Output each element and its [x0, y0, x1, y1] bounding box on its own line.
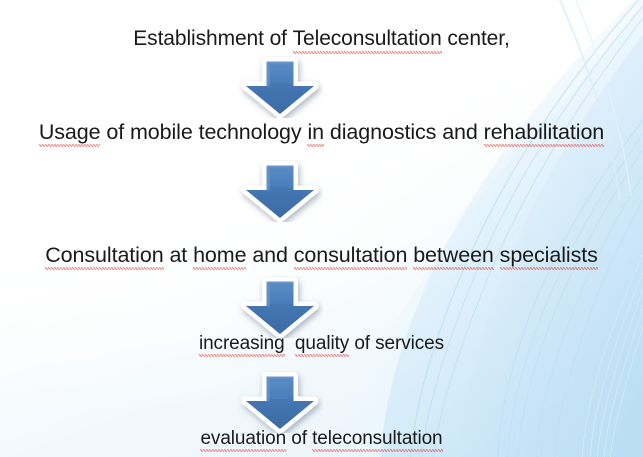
misspelled-word: Usage	[39, 120, 101, 145]
misspelled-word: teleconsultation	[312, 428, 442, 450]
misspelled-word: increasing	[199, 333, 285, 355]
process-flow-diagram: Establishment of Teleconsultation center…	[0, 0, 643, 457]
misspelled-word: between	[413, 243, 494, 268]
flow-step-text-5: evaluation of teleconsultation	[0, 428, 643, 450]
misspelled-word: Teleconsultation	[293, 27, 442, 52]
misspelled-word: consultation	[294, 243, 408, 268]
misspelled-word: home	[193, 243, 246, 268]
misspelled-word: rehabilitation	[484, 120, 605, 145]
misspelled-word: specialists	[500, 243, 598, 268]
down-arrow-icon	[237, 56, 323, 118]
misspelled-word: Consultation	[45, 243, 163, 268]
misspelled-word: evaluation	[200, 428, 286, 450]
flow-step-text-4: increasing quality of services	[0, 333, 643, 355]
flow-step-text-2: Usage of mobile technology in diagnostic…	[0, 120, 643, 145]
flow-step-text-1: Establishment of Teleconsultation center…	[0, 27, 643, 52]
down-arrow-icon	[237, 160, 323, 222]
down-arrow-icon	[237, 371, 323, 433]
down-arrow-icon	[237, 276, 323, 338]
misspelled-word: in	[307, 120, 324, 145]
flow-step-text-3: Consultation at home and consultation be…	[0, 243, 643, 268]
misspelled-word: quality	[295, 333, 349, 355]
slide-canvas: Establishment of Teleconsultation center…	[0, 0, 643, 457]
